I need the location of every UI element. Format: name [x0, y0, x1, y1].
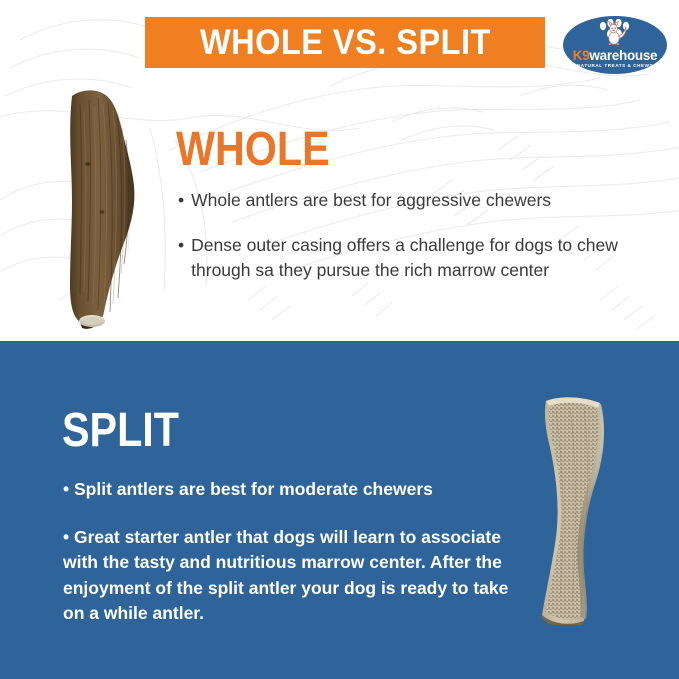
brand-logo[interactable]: K9warehouse NATURAL TREATS & CHEWS: [563, 16, 667, 74]
logo-warehouse-text: warehouse: [589, 48, 657, 63]
list-item-text: Whole antlers are best for aggressive ch…: [191, 188, 618, 214]
logo-k9-text: K9: [573, 48, 590, 63]
dog-and-paw-print-icon: [592, 19, 638, 45]
banner: WHOLE VS. SPLIT: [145, 17, 545, 68]
list-item: • Whole antlers are best for aggressive …: [178, 188, 618, 214]
split-heading: SPLIT: [62, 407, 179, 455]
split-bullet-list: • Split antlers are best for moderate ch…: [63, 477, 521, 649]
list-item: • Split antlers are best for moderate ch…: [63, 477, 521, 503]
split-antler-photo: [528, 395, 620, 625]
list-item: • Great starter antler that dogs will le…: [63, 525, 521, 627]
whole-antler-photo: [58, 88, 154, 331]
list-item-text: Dense outer casing offers a challenge fo…: [191, 233, 618, 284]
banner-title: WHOLE VS. SPLIT: [200, 25, 491, 60]
list-item: • Dense outer casing offers a challenge …: [178, 233, 618, 284]
bullet-dot: •: [178, 188, 184, 214]
logo-tagline: NATURAL TREATS & CHEWS: [577, 63, 653, 69]
split-section: SPLIT • Split antlers are best for moder…: [0, 341, 679, 679]
logo-wordmark: K9warehouse: [573, 49, 658, 62]
bullet-dot: •: [178, 233, 184, 284]
whole-section: WHOLE VS. SPLIT: [0, 0, 679, 341]
infographic-page: WHOLE VS. SPLIT: [0, 0, 679, 679]
whole-bullet-list: • Whole antlers are best for aggressive …: [178, 188, 618, 303]
whole-heading: WHOLE: [176, 126, 330, 174]
